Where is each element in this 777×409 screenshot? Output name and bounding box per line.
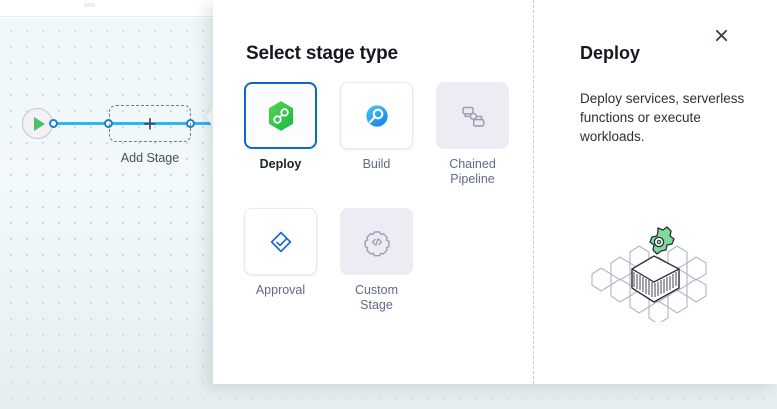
close-button[interactable] — [710, 24, 732, 46]
stage-type-option-build[interactable]: Build — [340, 82, 413, 187]
approval-diamond-check-icon — [266, 227, 296, 257]
page-title: Select stage type — [246, 43, 398, 65]
approval-tile-label: Approval — [244, 283, 317, 298]
add-stage-label: Add Stage — [109, 151, 191, 165]
deploy-tile-label: Deploy — [244, 157, 317, 172]
chained-pipeline-tile-label: Chained Pipeline — [436, 157, 509, 187]
detail-description: Deploy services, serverless functions or… — [580, 89, 750, 146]
play-icon — [34, 117, 45, 131]
deploy-tile[interactable] — [244, 82, 317, 149]
stage-type-panel: Select stage type — [213, 0, 777, 384]
app-screen: + Add Stage Select stage type — [0, 0, 777, 409]
custom-stage-tile-label: Custom Stage — [340, 283, 413, 313]
deploy-gear-hexagons-illustration — [584, 222, 734, 322]
build-magnifier-icon — [361, 100, 393, 132]
chained-pipeline-icon — [456, 99, 490, 133]
stage-type-list-pane: Select stage type — [213, 0, 533, 384]
stage-type-row-2: Approval — [244, 208, 514, 313]
stage-type-row-1: Deploy — [244, 82, 514, 187]
build-tile[interactable] — [340, 82, 413, 149]
stage-type-option-approval[interactable]: Approval — [244, 208, 317, 313]
add-stage-node[interactable]: + — [109, 105, 191, 142]
custom-stage-tile[interactable] — [340, 208, 413, 275]
custom-stage-gear-code-icon — [361, 226, 393, 258]
stage-type-option-deploy[interactable]: Deploy — [244, 82, 317, 187]
harness-deploy-hexagon-icon — [264, 99, 298, 133]
toolbar-placeholder-chip — [84, 3, 95, 7]
approval-tile[interactable] — [244, 208, 317, 275]
stage-type-grid: Deploy — [244, 82, 514, 313]
close-icon — [714, 28, 729, 43]
build-tile-label: Build — [340, 157, 413, 172]
plus-icon: + — [143, 112, 156, 135]
stage-type-option-custom-stage[interactable]: Custom Stage — [340, 208, 413, 313]
detail-title: Deploy — [580, 43, 640, 64]
chained-pipeline-tile[interactable] — [436, 82, 509, 149]
stage-type-option-chained-pipeline[interactable]: Chained Pipeline — [436, 82, 509, 187]
connector-port-start[interactable] — [49, 119, 58, 128]
stage-type-detail-pane: Deploy Deploy services, serverless funct… — [534, 0, 777, 384]
